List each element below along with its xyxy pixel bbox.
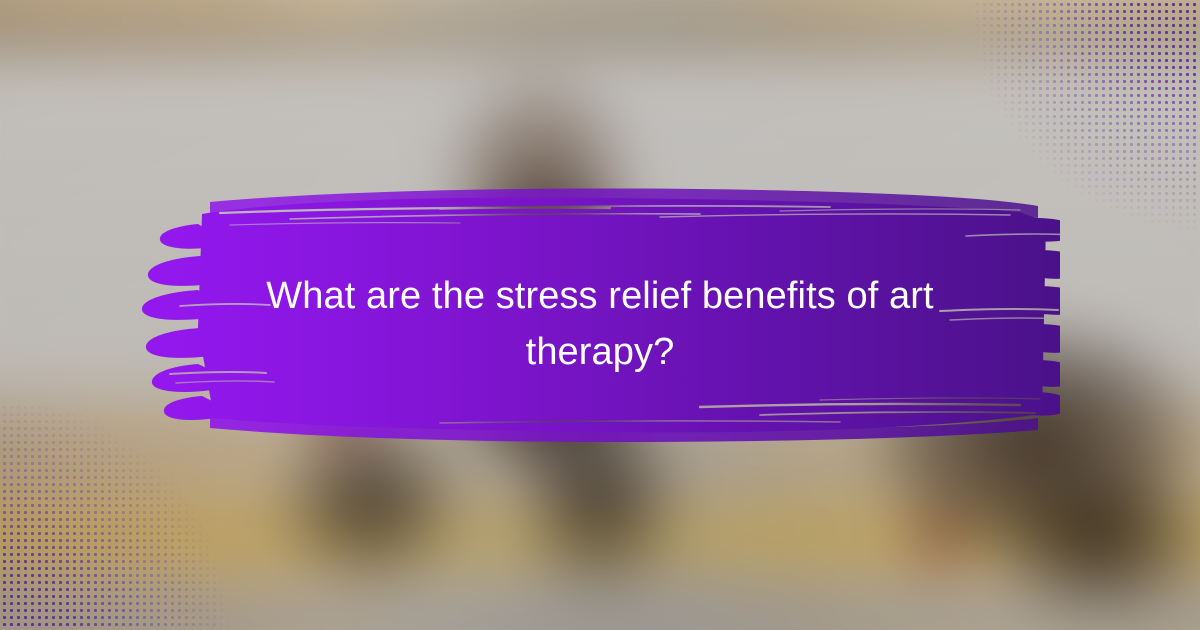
share-card-canvas: What are the stress relief benefits of a…: [0, 0, 1200, 630]
page-title: What are the stress relief benefits of a…: [210, 268, 990, 380]
